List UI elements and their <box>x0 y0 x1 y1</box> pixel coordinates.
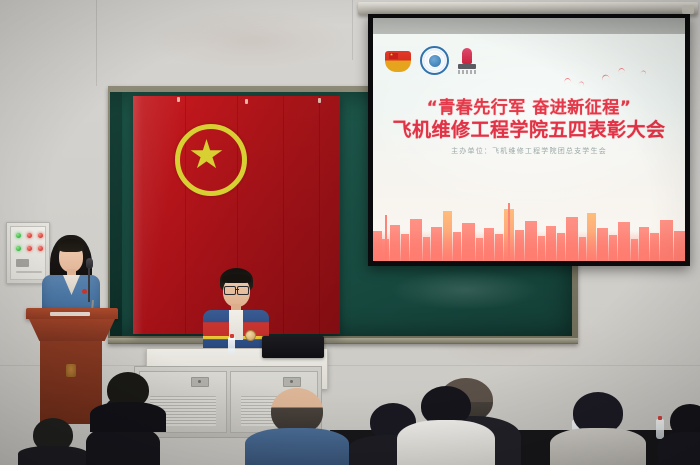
audience-member <box>398 386 494 465</box>
communist-youth-league-emblem-icon <box>385 49 411 73</box>
podium-paper <box>50 312 90 316</box>
slide-logo-row <box>385 46 476 75</box>
bottle-cap <box>230 334 234 338</box>
chalk-rail <box>108 338 578 343</box>
cabinet-latch[interactable] <box>191 377 209 387</box>
chalk-dust <box>390 270 540 310</box>
flag-pin <box>245 99 248 104</box>
presentation-slide: “青春先行军 奋进新征程” 飞机维修工程学院五四表彰大会 主办单位：飞机维修工程… <box>373 34 685 261</box>
microphone-stem <box>88 268 90 302</box>
flag-fold <box>283 96 284 334</box>
flag-pin <box>177 97 180 102</box>
laptop <box>262 336 324 358</box>
flying-birds-illustration <box>558 62 668 92</box>
city-skyline-silhouette <box>373 199 685 261</box>
audience-member <box>18 418 88 465</box>
slide-title-line-2: 飞机维修工程学院五四表彰大会 <box>373 115 685 142</box>
shoulders <box>550 428 646 465</box>
water-bottle <box>228 337 235 354</box>
bird-icon <box>601 74 610 82</box>
podium-slant <box>29 319 115 341</box>
microphone <box>84 258 96 308</box>
projector-screen-surface: “青春先行军 奋进新征程” 飞机维修工程学院五四表彰大会 主办单位：飞机维修工程… <box>373 18 685 261</box>
audience-member <box>247 388 347 465</box>
indicator-light-red <box>27 233 32 238</box>
hair-fringe <box>222 274 251 283</box>
event-brand-logo-icon <box>458 48 476 74</box>
flag-highlight <box>133 96 143 334</box>
podium-emblem <box>66 364 76 377</box>
panel-label <box>16 259 29 267</box>
flag-fold <box>319 96 320 334</box>
university-seal-logo-icon <box>420 46 449 75</box>
bird-icon <box>564 78 572 84</box>
wall-stain <box>150 10 350 70</box>
indicator-light-green <box>16 246 21 251</box>
shoulders <box>658 432 700 465</box>
screen-housing-cap <box>682 5 694 14</box>
audience-member <box>92 372 164 432</box>
indicator-light-green <box>16 233 21 238</box>
wall-seam <box>96 0 97 86</box>
cabinet-latch[interactable] <box>283 377 301 387</box>
flag-fold <box>185 96 186 334</box>
chest-badge <box>245 330 256 341</box>
shoulders <box>18 446 88 465</box>
shoulders <box>90 402 166 432</box>
hair-fringe <box>58 239 84 252</box>
bird-icon <box>578 81 584 86</box>
flag-pin <box>318 98 321 103</box>
audience-member <box>550 392 646 465</box>
indicator-light-red <box>27 246 32 251</box>
photo-scene: “青春先行军 奋进新征程” 飞机维修工程学院五四表彰大会 主办单位：飞机维修工程… <box>0 0 700 465</box>
screen-unlit-strip <box>373 18 685 34</box>
glasses-icon <box>224 286 249 293</box>
audience-member <box>660 404 700 465</box>
chalkboard-left-strip <box>110 92 122 336</box>
shoulders <box>397 420 495 465</box>
bird-icon <box>640 70 646 75</box>
shoulders <box>245 428 349 465</box>
wall-seam <box>352 0 353 60</box>
bird-icon <box>618 68 626 74</box>
slide-subtitle: 主办单位：飞机维修工程学院团总支学生会 <box>373 146 685 156</box>
